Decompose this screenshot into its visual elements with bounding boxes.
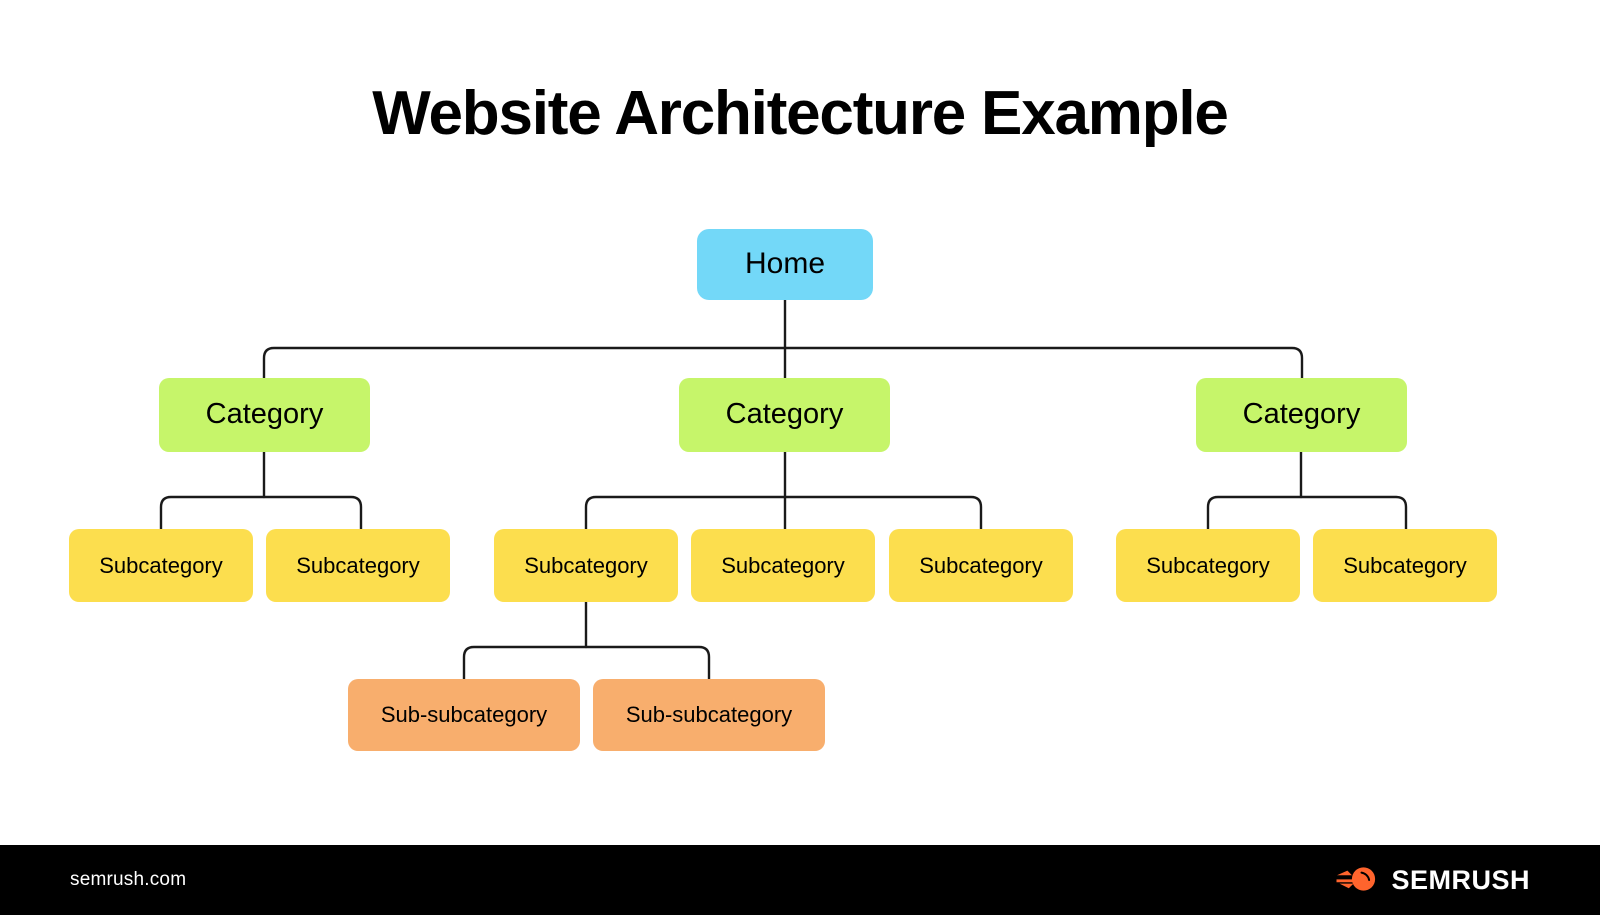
node-category-left[interactable]: Category [159,378,370,452]
semrush-comet-icon [1336,863,1378,898]
node-home[interactable]: Home [697,229,873,300]
edge-category-left-bus [161,497,361,529]
node-category-right[interactable]: Category [1196,378,1407,452]
edge-category-mid-bus [586,497,981,529]
node-subcategory-middle-1[interactable]: Subcategory [494,529,678,602]
node-subcategory-left-1[interactable]: Subcategory [69,529,253,602]
page-root: Website Architecture Example Home [0,0,1600,915]
footer-url: semrush.com [70,869,186,891]
footer-bar: semrush.com SEMRUSH [0,845,1600,915]
node-subcategory-left-2[interactable]: Subcategory [266,529,450,602]
node-category-middle[interactable]: Category [679,378,890,452]
architecture-diagram: Home Category Category Category Subcateg… [0,0,1600,845]
node-subcategory-middle-2[interactable]: Subcategory [691,529,875,602]
semrush-logo: SEMRUSH [1336,863,1530,898]
edge-home-bus [264,348,1302,378]
node-sub-subcategory-2[interactable]: Sub-subcategory [593,679,825,751]
node-sub-subcategory-1[interactable]: Sub-subcategory [348,679,580,751]
edge-subcategory-bus [464,647,709,679]
edge-category-right-bus [1208,497,1406,529]
node-subcategory-right-1[interactable]: Subcategory [1116,529,1300,602]
node-subcategory-right-2[interactable]: Subcategory [1313,529,1497,602]
semrush-wordmark: SEMRUSH [1391,865,1530,896]
node-subcategory-middle-3[interactable]: Subcategory [889,529,1073,602]
